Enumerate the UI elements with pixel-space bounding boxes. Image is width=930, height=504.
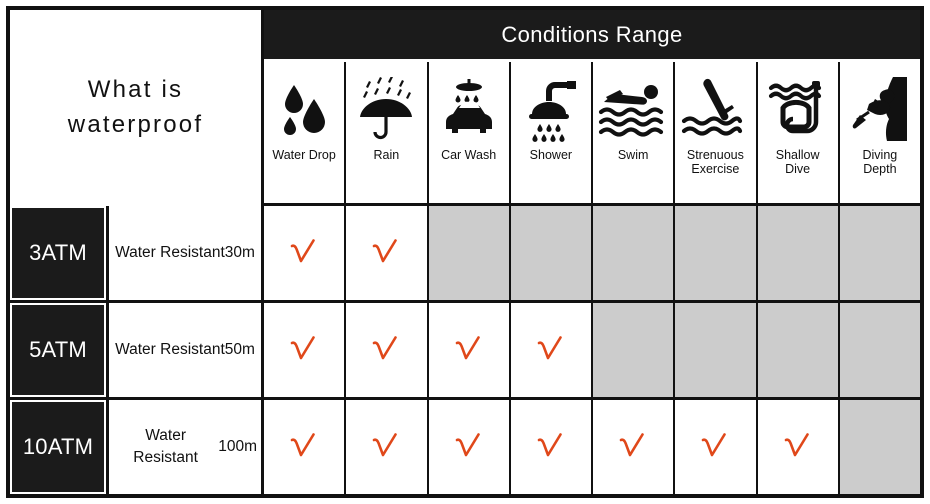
unsupported-cell [758, 303, 840, 397]
unsupported-cell [840, 303, 920, 397]
check-icon [783, 431, 813, 463]
car-wash-icon [436, 74, 502, 146]
unsupported-cell [429, 206, 511, 300]
condition-label: Water Drop [270, 148, 337, 162]
mark-cells [264, 400, 920, 494]
condition-column-swim: Swim [593, 62, 675, 203]
check-icon [618, 431, 648, 463]
condition-label: DivingDepth [861, 148, 900, 177]
check-icon [289, 431, 319, 463]
atm-rating-cell: 5ATM [10, 303, 106, 397]
unsupported-cell [675, 206, 757, 300]
atm-rating-cell: 10ATM [10, 400, 106, 494]
shallow-dive-icon [763, 74, 833, 146]
condition-column-water-drop: Water Drop [264, 62, 346, 203]
condition-label: Rain [372, 148, 402, 162]
chart-title-line-2: waterproof [68, 108, 203, 143]
waterproof-rating-chart: What is waterproof Conditions Range Wate… [0, 0, 930, 504]
condition-columns: Water Drop Rain Car Wash [264, 62, 920, 206]
supported-check-cell [264, 400, 346, 494]
table-body: 3ATMWater Resistant30m 5ATMWater Resista… [10, 206, 920, 494]
check-icon [289, 334, 319, 366]
resistance-description: Water Resistant100m [106, 400, 264, 494]
condition-label: StrenuousExercise [685, 148, 746, 177]
rating-table: What is waterproof Conditions Range Wate… [6, 6, 924, 498]
chart-title-line-1: What is [68, 73, 203, 108]
unsupported-cell [593, 206, 675, 300]
supported-check-cell [675, 400, 757, 494]
condition-column-car-wash: Car Wash [429, 62, 511, 203]
supported-check-cell [758, 400, 840, 494]
supported-check-cell [346, 303, 428, 397]
table-header: What is waterproof Conditions Range Wate… [10, 10, 920, 206]
condition-column-shallow-dive: ShallowDive [758, 62, 840, 203]
unsupported-cell [840, 206, 920, 300]
condition-column-diving-depth: DivingDepth [840, 62, 920, 203]
supported-check-cell [593, 400, 675, 494]
condition-column-rain: Rain [346, 62, 428, 203]
condition-label: ShallowDive [774, 148, 822, 177]
unsupported-cell [675, 303, 757, 397]
mark-cells [264, 206, 920, 300]
check-icon [371, 431, 401, 463]
water-drop-icon [276, 74, 332, 146]
supported-check-cell [511, 400, 593, 494]
table-row: 5ATMWater Resistant50m [10, 300, 920, 397]
check-icon [289, 237, 319, 269]
supported-check-cell [264, 303, 346, 397]
supported-check-cell [429, 400, 511, 494]
atm-rating-cell: 3ATM [10, 206, 106, 300]
table-row: 10ATMWater Resistant100m [10, 397, 920, 494]
supported-check-cell [511, 303, 593, 397]
supported-check-cell [346, 400, 428, 494]
check-icon [371, 334, 401, 366]
swim-icon [596, 74, 670, 146]
supported-check-cell [346, 206, 428, 300]
condition-label: Car Wash [439, 148, 498, 162]
atm-rating-badge: 3ATM [12, 208, 104, 298]
check-icon [371, 237, 401, 269]
table-row: 3ATMWater Resistant30m [10, 206, 920, 300]
chart-title-cell: What is waterproof [10, 10, 264, 206]
condition-label: Shower [528, 148, 574, 162]
unsupported-cell [511, 206, 593, 300]
atm-rating-badge: 10ATM [12, 402, 104, 492]
unsupported-cell [593, 303, 675, 397]
chart-title: What is waterproof [68, 73, 203, 143]
mark-cells [264, 303, 920, 397]
shower-icon [518, 74, 584, 146]
unsupported-cell [758, 206, 840, 300]
diving-depth-icon [849, 74, 911, 146]
condition-column-shower: Shower [511, 62, 593, 203]
conditions-section: Conditions Range Water Drop Rain Car Was… [264, 10, 920, 206]
check-icon [700, 431, 730, 463]
check-icon [536, 334, 566, 366]
condition-label: Swim [616, 148, 651, 162]
strenuous-exercise-icon [678, 74, 752, 146]
supported-check-cell [429, 303, 511, 397]
resistance-description: Water Resistant30m [106, 206, 264, 300]
atm-rating-badge: 5ATM [12, 305, 104, 395]
condition-column-strenuous-exercise: StrenuousExercise [675, 62, 757, 203]
supported-check-cell [264, 206, 346, 300]
rain-umbrella-icon [353, 74, 419, 146]
check-icon [536, 431, 566, 463]
unsupported-cell [840, 400, 920, 494]
check-icon [454, 334, 484, 366]
resistance-description: Water Resistant50m [106, 303, 264, 397]
check-icon [454, 431, 484, 463]
conditions-range-banner: Conditions Range [264, 10, 920, 62]
